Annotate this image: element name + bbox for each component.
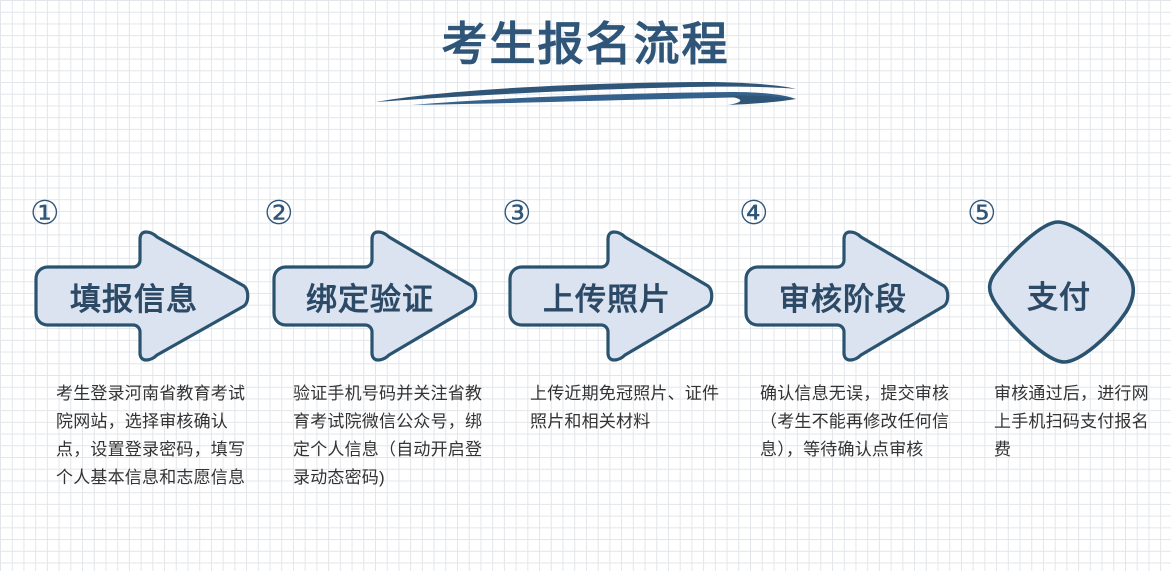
step-label-5: 支付 — [1027, 272, 1091, 317]
step-label-1: 填报信息 — [70, 274, 198, 319]
step-label-3: 上传照片 — [543, 274, 671, 319]
step-description-1: 考生登录河南省教育考试院网站，选择审核确认点，设置登录密码，填写个人基本信息和志… — [56, 380, 246, 492]
step-description-3: 上传近期免冠照片、证件照片和相关材料 — [530, 380, 722, 436]
page-title: 考生报名流程 — [0, 18, 1171, 71]
step-description-4: 确认信息无误，提交审核（考生不能再修改任何信息），等待确认点审核 — [760, 380, 956, 464]
step-label-4: 审核阶段 — [779, 274, 907, 319]
title-block: 考生报名流程 — [0, 18, 1171, 71]
step-badge-4: ④ — [739, 196, 769, 229]
step-badge-1: ① — [30, 196, 60, 229]
step-description-2: 验证手机号码并关注省教育考试院微信公众号，绑定个人信息（自动开启登录动态密码) — [293, 380, 485, 492]
step-description-5: 审核通过后，进行网上手机扫码支付报名费 — [994, 380, 1164, 464]
flowchart-canvas: 考生报名流程 ① 填报信息 考生登录河南省教育考试院网站，选择审核确认点，设置登… — [0, 0, 1171, 571]
step-badge-2: ② — [264, 196, 294, 229]
step-badge-3: ③ — [502, 196, 532, 229]
step-label-2: 绑定验证 — [306, 274, 434, 319]
title-underline-swoosh — [372, 78, 800, 110]
